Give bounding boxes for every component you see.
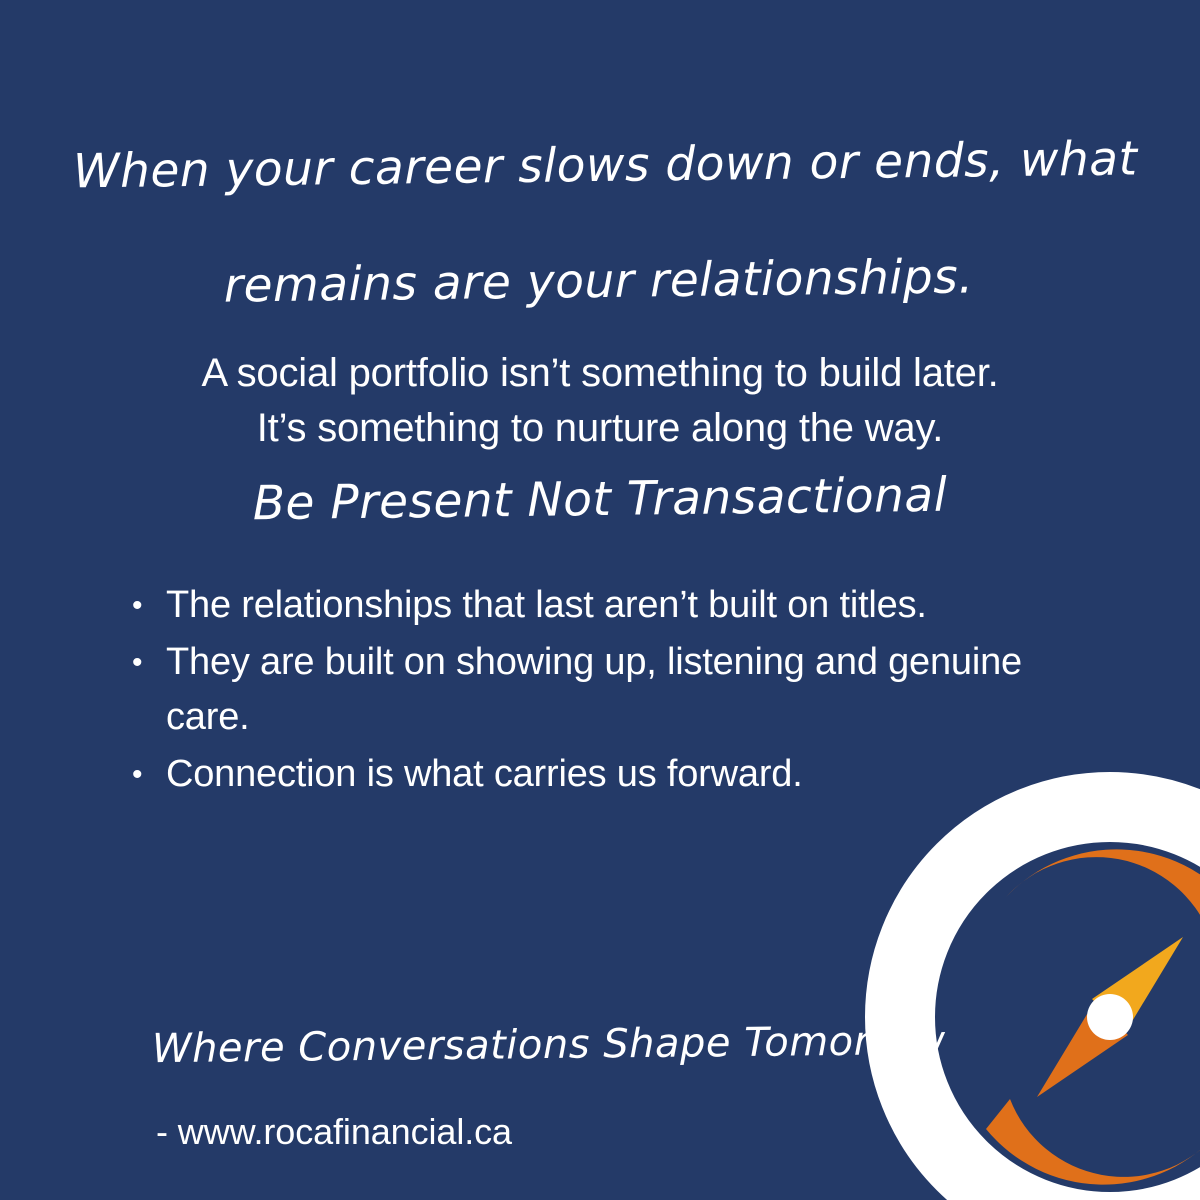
post-content: When your career slows down or ends, wha…	[0, 0, 1200, 1200]
subheading: Be Present Not Transactional	[60, 459, 1141, 540]
bullet-dot-icon: •	[132, 578, 166, 633]
list-item-label: The relationships that last aren’t built…	[166, 578, 1112, 633]
headline-line-1: When your career slows down or ends, wha…	[65, 101, 1146, 230]
headline-line-2: remains are your relationships.	[58, 217, 1139, 346]
bullet-dot-icon: •	[132, 635, 166, 690]
bullet-dot-icon: •	[132, 747, 166, 802]
brand-tagline: Where Conversations Shape Tomorrow	[152, 1014, 946, 1076]
lede-line-2: It’s something to nurture along the way.	[60, 401, 1140, 456]
social-post-card: When your career slows down or ends, wha…	[0, 0, 1200, 1200]
list-item: • Connection is what carries us forward.	[132, 747, 1112, 802]
list-item: • They are built on showing up, listenin…	[132, 635, 1112, 745]
bullet-list: • The relationships that last aren’t bui…	[132, 578, 1112, 804]
list-item: • The relationships that last aren’t bui…	[132, 578, 1112, 633]
website-url[interactable]: - www.rocafinancial.ca	[156, 1107, 512, 1157]
headline: When your career slows down or ends, wha…	[59, 101, 1142, 346]
list-item-label: They are built on showing up, listening …	[166, 635, 1112, 745]
lede-line-1: A social portfolio isn’t something to bu…	[60, 346, 1140, 401]
lede-paragraph: A social portfolio isn’t something to bu…	[60, 346, 1140, 456]
list-item-label: Connection is what carries us forward.	[166, 747, 1112, 802]
